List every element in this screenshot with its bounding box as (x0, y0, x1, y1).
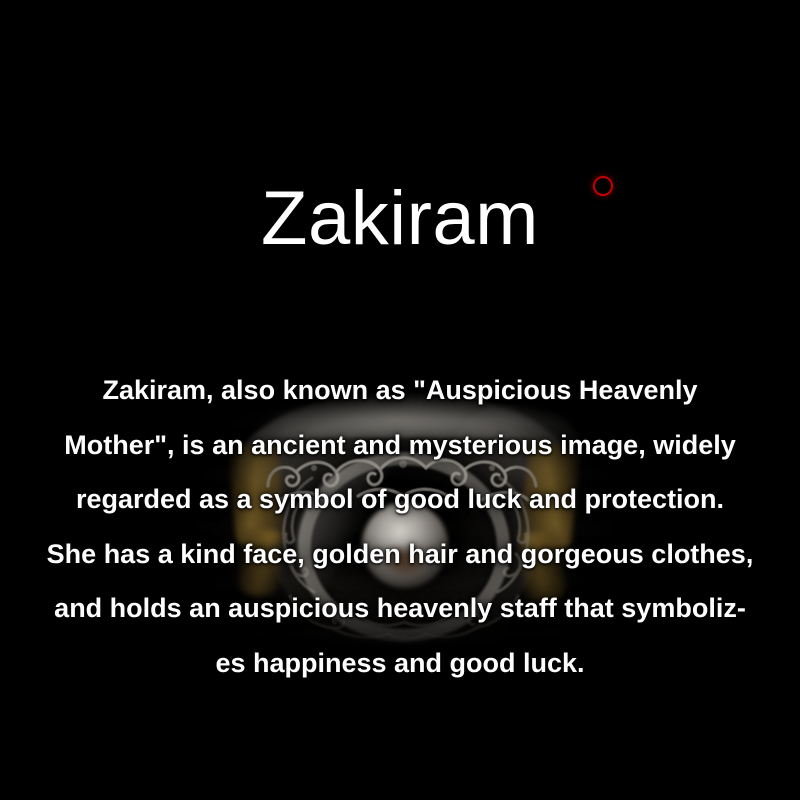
description-line: She has a kind face, golden hair and gor… (0, 527, 800, 582)
description-paragraph: Zakiram, also known as "Auspicious Heave… (0, 363, 800, 690)
description-line: es happiness and good luck. (0, 636, 800, 691)
description-line: Mother", is an ancient and mysterious im… (0, 418, 800, 473)
content-overlay: Zakiram Zakiram, also known as "Auspicio… (0, 0, 800, 800)
description-line: Zakiram, also known as "Auspicious Heave… (0, 363, 800, 418)
red-circle-icon (593, 176, 613, 196)
description-line: regarded as a symbol of good luck and pr… (0, 472, 800, 527)
product-description-screen: Zakiram Zakiram, also known as "Auspicio… (0, 0, 800, 800)
description-line: and holds an auspicious heavenly staff t… (0, 581, 800, 636)
page-title: Zakiram (0, 181, 800, 257)
